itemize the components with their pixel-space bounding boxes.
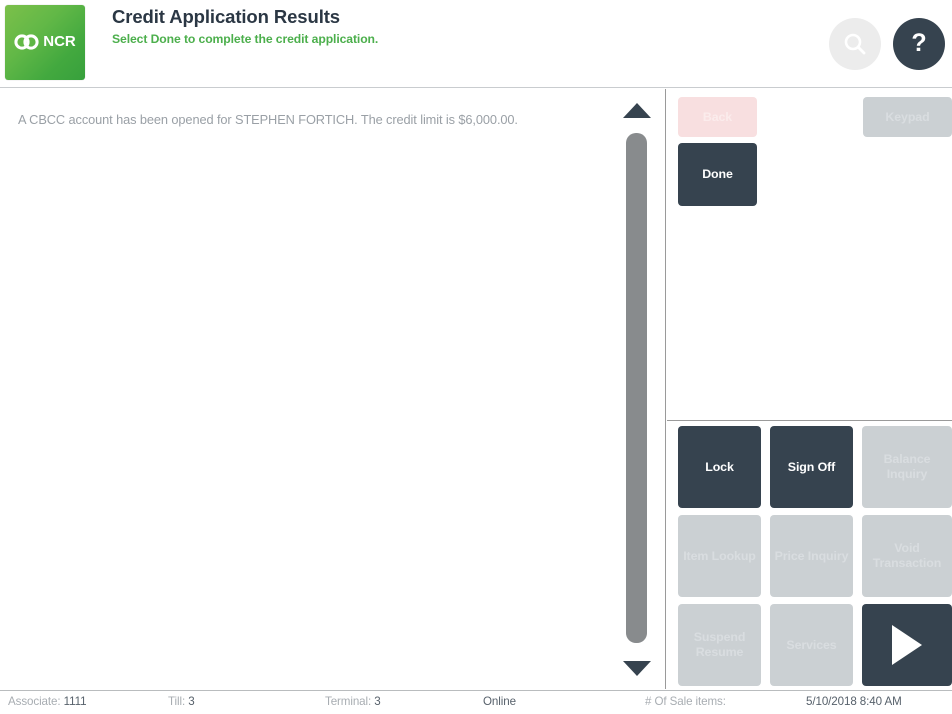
- right-control-panel: Back Done Keypad Lock Sign Off Balance I…: [667, 89, 952, 689]
- status-bar: Associate: 1111 Till: 3 Terminal: 3 Onli…: [0, 690, 952, 714]
- sign-off-button[interactable]: Sign Off: [770, 426, 853, 508]
- status-connection-value: Online: [483, 695, 516, 708]
- services-button[interactable]: Services: [770, 604, 853, 686]
- search-button[interactable]: [829, 18, 881, 70]
- status-terminal-label: Terminal:: [325, 695, 371, 708]
- help-button[interactable]: ?: [893, 18, 945, 70]
- scroll-up-arrow-icon: [623, 103, 651, 118]
- status-associate: Associate: 1111: [8, 695, 86, 708]
- result-message: A CBCC account has been opened for STEPH…: [18, 111, 618, 128]
- status-till: Till: 3: [168, 695, 195, 708]
- page-title: Credit Application Results: [112, 5, 378, 29]
- ncr-logo: NCR: [5, 5, 85, 80]
- status-sale-items-label: # Of Sale items:: [645, 695, 726, 708]
- header-title-block: Credit Application Results Select Done t…: [112, 5, 378, 48]
- page-subtitle: Select Done to complete the credit appli…: [112, 31, 378, 48]
- lock-button[interactable]: Lock: [678, 426, 761, 508]
- price-inquiry-button[interactable]: Price Inquiry: [770, 515, 853, 597]
- status-associate-value: 1111: [64, 695, 87, 708]
- status-sale-items: # Of Sale items:: [645, 695, 726, 708]
- app-header: NCR Credit Application Results Select Do…: [0, 0, 952, 88]
- status-till-label: Till:: [168, 695, 185, 708]
- next-page-button[interactable]: [862, 604, 952, 686]
- status-connection: Online: [483, 695, 516, 708]
- content-scrollbar[interactable]: [622, 99, 651, 679]
- scroll-down-arrow-icon: [623, 661, 651, 676]
- message-content-panel: A CBCC account has been opened for STEPH…: [0, 89, 666, 689]
- status-datetime-value: 5/10/2018 8:40 AM: [806, 695, 902, 708]
- status-terminal-value: 3: [374, 695, 380, 708]
- search-icon: [842, 31, 868, 57]
- scroll-up-button[interactable]: [622, 99, 651, 121]
- ncr-logo-text: NCR: [43, 33, 76, 50]
- scrollbar-thumb[interactable]: [626, 133, 647, 643]
- keypad-button[interactable]: Keypad: [863, 97, 952, 137]
- balance-inquiry-button[interactable]: Balance Inquiry: [862, 426, 952, 508]
- done-button[interactable]: Done: [678, 143, 757, 206]
- item-lookup-button[interactable]: Item Lookup: [678, 515, 761, 597]
- question-mark-icon: ?: [911, 31, 926, 56]
- ncr-interlocking-rings-icon: [14, 34, 40, 50]
- scroll-down-button[interactable]: [622, 657, 651, 679]
- suspend-resume-button[interactable]: Suspend Resume: [678, 604, 761, 686]
- navigation-button-area: Back Done Keypad: [667, 89, 952, 421]
- status-datetime: 5/10/2018 8:40 AM: [806, 695, 902, 708]
- status-till-value: 3: [188, 695, 194, 708]
- back-button[interactable]: Back: [678, 97, 757, 137]
- pos-application-window: NCR Credit Application Results Select Do…: [0, 0, 952, 714]
- void-transaction-button[interactable]: Void Transaction: [862, 515, 952, 597]
- play-arrow-next-icon: [892, 625, 922, 665]
- status-terminal: Terminal: 3: [325, 695, 381, 708]
- status-associate-label: Associate:: [8, 695, 61, 708]
- function-button-grid: Lock Sign Off Balance Inquiry Item Looku…: [667, 422, 952, 689]
